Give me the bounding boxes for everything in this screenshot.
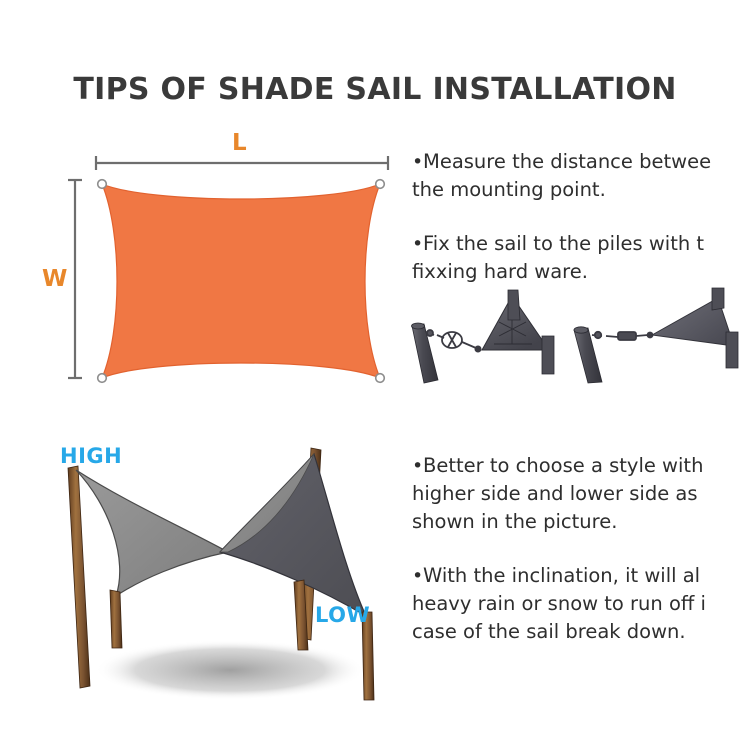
bullet-icon: • — [412, 148, 423, 176]
width-label: W — [42, 266, 67, 292]
top-tips-panel: •Measure the distance betwee the mountin… — [404, 148, 750, 388]
tip-text: the mounting point. — [412, 178, 606, 201]
tip-line: •Better to choose a style with — [412, 452, 750, 480]
mounting-post — [726, 332, 738, 368]
bottom-tips-panel: •Better to choose a style with higher si… — [404, 452, 750, 642]
hardware-illustration-2 — [566, 288, 750, 383]
page-title: TIPS OF SHADE SAIL INSTALLATION — [0, 72, 750, 107]
shackle-pin — [475, 346, 482, 353]
bullet-icon: • — [412, 452, 423, 480]
tip-text: fixxing hard ware. — [412, 260, 588, 283]
sail-light-shape — [76, 470, 228, 596]
hardware-illustration-1 — [404, 288, 579, 383]
pole-top-cap — [412, 323, 425, 329]
low-label: LOW — [315, 603, 370, 627]
post-front-left — [110, 590, 122, 648]
grommet-icon — [376, 180, 385, 189]
tip-fix-sail: •Fix the sail to the piles with t fixxin… — [412, 230, 750, 286]
tip-text: Fix the sail to the piles with t — [423, 232, 704, 255]
pole-shape — [412, 324, 438, 383]
tip-text: higher side and lower side as — [412, 482, 698, 505]
tip-text: Better to choose a style with — [423, 454, 703, 477]
length-dimension-line — [96, 156, 388, 170]
tip-line: •Measure the distance betwee — [412, 148, 750, 176]
tip-line: higher side and lower side as — [412, 480, 750, 508]
tip-inclination: •With the inclination, it will al heavy … — [412, 562, 750, 646]
bullet-icon: • — [412, 562, 423, 590]
mounting-post — [508, 290, 520, 320]
tip-line: •Fix the sail to the piles with t — [412, 230, 750, 258]
hardware-svg-2 — [566, 288, 750, 383]
tip-line: •With the inclination, it will al — [412, 562, 750, 590]
width-dimension-line — [68, 180, 82, 378]
tip-line: fixxing hard ware. — [412, 258, 750, 286]
tip-line: shown in the picture. — [412, 508, 750, 536]
inclined-sail-svg — [30, 440, 420, 710]
rect-sail-svg — [40, 138, 410, 400]
pole-top-cap — [574, 327, 588, 333]
grommet-icon — [376, 374, 385, 383]
tip-text: case of the sail break down. — [412, 620, 686, 643]
tip-text: shown in the picture. — [412, 510, 617, 533]
mounting-post — [542, 336, 554, 374]
length-label: L — [232, 130, 247, 156]
tip-text: heavy rain or snow to run off i — [412, 592, 706, 615]
inclined-sail-diagram: HIGH LOW — [30, 440, 420, 710]
bullet-icon: • — [412, 230, 423, 258]
hardware-svg-1 — [404, 288, 579, 383]
high-label: HIGH — [60, 444, 122, 468]
tip-text: With the inclination, it will al — [423, 564, 700, 587]
rect-sail-diagram: L W — [40, 138, 410, 400]
tip-measure: •Measure the distance betwee the mountin… — [412, 148, 750, 204]
ground-shadow — [95, 640, 365, 700]
tip-style-choice: •Better to choose a style with higher si… — [412, 452, 750, 536]
tip-line: the mounting point. — [412, 176, 750, 204]
tip-text: Measure the distance betwee — [423, 150, 711, 173]
mounting-post — [712, 288, 724, 310]
turnbuckle-hardware — [592, 332, 648, 340]
post-high-left — [68, 466, 90, 688]
tip-line: heavy rain or snow to run off i — [412, 590, 750, 618]
infographic-page: TIPS OF SHADE SAIL INSTALLATION — [0, 0, 750, 750]
grommet-icon — [98, 374, 107, 383]
tip-line: case of the sail break down. — [412, 618, 750, 646]
grommet-icon — [98, 180, 107, 189]
sail-fabric-shape — [102, 184, 380, 378]
turnbuckle-hardware — [426, 330, 476, 348]
